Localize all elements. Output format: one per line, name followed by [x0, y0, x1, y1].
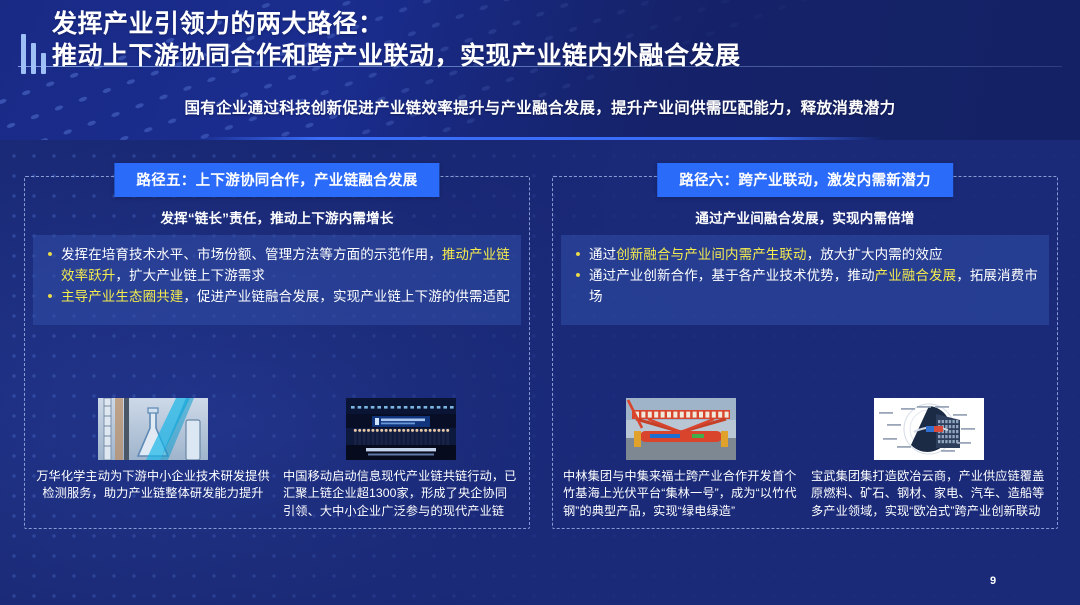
bamboo-solar-platform-photo	[563, 398, 799, 460]
bullet-item: •主导产业生态圈共建，促进产业链融合发展，实现产业链上下游的供需适配	[39, 286, 511, 307]
bullet-marker-icon: •	[567, 265, 589, 286]
highlighted-phrase: 主导产业生态圈共建	[61, 289, 183, 304]
page-number: 9	[990, 575, 996, 587]
title-line-1: 发挥产业引领力的两大路径：	[52, 8, 1052, 40]
slide-root: 发挥产业引领力的两大路径： 推动上下游协同合作和跨产业联动，实现产业链内外融合发…	[0, 0, 1080, 605]
panel-subtitle: 通过产业间融合发展，实现内需倍增	[553, 207, 1057, 227]
plain-phrase: 发挥在培育技术水平、市场份额、管理方法等方面的示范作用，	[61, 247, 442, 262]
header-accent-bar	[196, 137, 884, 140]
panel-bullet-list: •通过创新融合与产业间内需产生联动，放大扩大内需的效应•通过产业创新合作，基于各…	[561, 235, 1049, 325]
case-cell: 中林集团与中集来福士跨产业合作开发首个竹基海上光伏平台“集林一号”，成为“以竹代…	[563, 398, 799, 521]
slide-header: 发挥产业引领力的两大路径： 推动上下游协同合作和跨产业联动，实现产业链内外融合发…	[0, 0, 1080, 140]
plain-phrase: ，扩大产业链上下游需求	[115, 268, 265, 283]
panel-subtitle: 发挥“链长”责任，推动上下游内需增长	[25, 207, 529, 227]
case-caption: 万华化学主动为下游中小企业技术研发提供检测服务，助力产业链整体研发能力提升	[35, 468, 271, 503]
conference-stage-photo	[283, 398, 519, 460]
bullet-marker-icon: •	[567, 244, 589, 265]
bullet-item: •通过产业创新合作，基于各产业技术优势，推动产业融合发展，拓展消费市场	[567, 265, 1039, 307]
bullet-marker-icon: •	[39, 286, 61, 307]
panel-title-badge: 路径六：跨产业联动，激发内需新潜力	[657, 163, 953, 197]
panel-case-cells: 中林集团与中集来福士跨产业合作开发首个竹基海上光伏平台“集林一号”，成为“以竹代…	[563, 398, 1047, 521]
plain-phrase: 通过产业创新合作，基于各产业技术优势，推动	[589, 268, 875, 283]
bullet-marker-icon: •	[39, 244, 61, 265]
case-caption: 宝武集团集打造欧冶云商，产业供应链覆盖原燃料、矿石、钢材、家电、汽车、造船等多产…	[811, 468, 1047, 521]
panel-path-five: 路径五：上下游协同合作，产业链融合发展 发挥“链长”责任，推动上下游内需增长 •…	[24, 176, 530, 529]
page-title: 发挥产业引领力的两大路径： 推动上下游协同合作和跨产业联动，实现产业链内外融合发…	[52, 8, 1052, 72]
panel-bullet-list: •发挥在培育技术水平、市场份额、管理方法等方面的示范作用，推动产业链效率跃升，扩…	[33, 235, 521, 325]
highlighted-phrase: 创新融合与产业间内需产生联动	[616, 247, 806, 262]
title-line-2: 推动上下游协同合作和跨产业联动，实现产业链内外融合发展	[52, 40, 1052, 72]
case-caption: 中林集团与中集来福士跨产业合作开发首个竹基海上光伏平台“集林一号”，成为“以竹代…	[563, 468, 799, 521]
case-cell: 万华化学主动为下游中小企业技术研发提供检测服务，助力产业链整体研发能力提升	[35, 398, 271, 521]
case-cell: 宝武集团集打造欧冶云商，产业供应链覆盖原燃料、矿石、钢材、家电、汽车、造船等多产…	[811, 398, 1047, 521]
bullet-text: 发挥在培育技术水平、市场份额、管理方法等方面的示范作用，推动产业链效率跃升，扩大…	[61, 244, 511, 286]
plain-phrase: ，放大扩大内需的效应	[807, 247, 943, 262]
title-divider	[18, 66, 1062, 67]
slide-subtitle: 国有企业通过科技创新促进产业链效率提升与产业融合发展，提升产业间供需匹配能力，释…	[0, 96, 1080, 118]
bullet-text: 主导产业生态圈共建，促进产业链融合发展，实现产业链上下游的供需适配	[61, 286, 511, 307]
lab-glassware-photo	[35, 398, 271, 460]
highlighted-phrase: 产业融合发展	[875, 268, 957, 283]
bullet-text: 通过产业创新合作，基于各产业技术优势，推动产业融合发展，拓展消费市场	[589, 265, 1039, 307]
panel-case-cells: 万华化学主动为下游中小企业技术研发提供检测服务，助力产业链整体研发能力提升 中国…	[35, 398, 519, 521]
plain-phrase: ，促进产业链融合发展，实现产业链上下游的供需适配	[183, 289, 509, 304]
plain-phrase: 通过	[589, 247, 616, 262]
panel-path-six: 路径六：跨产业联动，激发内需新潜力 通过产业间融合发展，实现内需倍增 •通过创新…	[552, 176, 1058, 529]
panel-title-badge: 路径五：上下游协同合作，产业链融合发展	[114, 163, 439, 197]
bullet-item: •发挥在培育技术水平、市场份额、管理方法等方面的示范作用，推动产业链效率跃升，扩…	[39, 244, 511, 286]
ouyeel-ecosystem-diagram	[811, 398, 1047, 460]
bullet-text: 通过创新融合与产业间内需产生联动，放大扩大内需的效应	[589, 244, 1039, 265]
case-cell: 中国移动启动信息现代产业链共链行动，已汇聚上链企业超1300家，形成了央企协同引…	[283, 398, 519, 521]
case-caption: 中国移动启动信息现代产业链共链行动，已汇聚上链企业超1300家，形成了央企协同引…	[283, 468, 519, 521]
bullet-item: •通过创新融合与产业间内需产生联动，放大扩大内需的效应	[567, 244, 1039, 265]
